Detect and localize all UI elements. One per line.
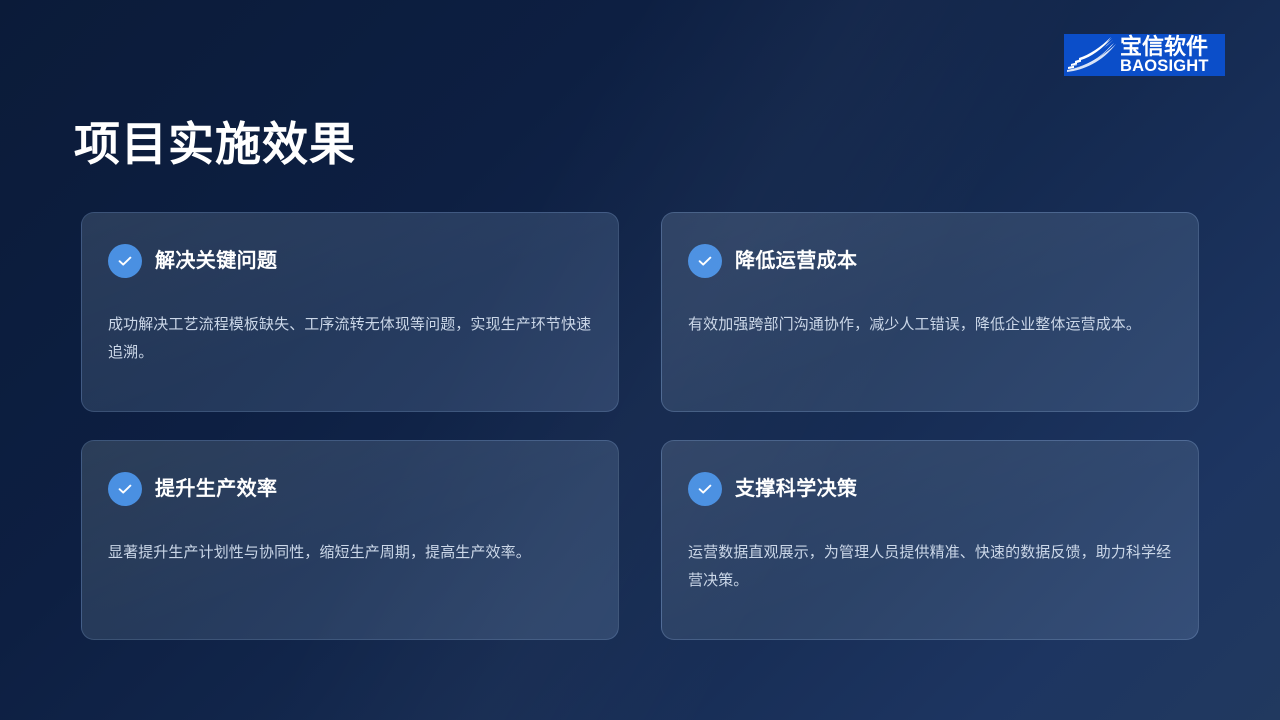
benefit-card: 解决关键问题 成功解决工艺流程模板缺失、工序流转无体现等问题，实现生产环节快速追… xyxy=(81,212,619,412)
check-circle-icon xyxy=(688,472,722,506)
card-body-text: 有效加强跨部门沟通协作，减少人工错误，降低企业整体运营成本。 xyxy=(688,311,1172,339)
card-title: 解决关键问题 xyxy=(155,248,277,274)
logo-brand-cn: 宝信软件 xyxy=(1120,35,1223,58)
card-header: 提升生产效率 xyxy=(108,472,277,506)
card-body-text: 成功解决工艺流程模板缺失、工序流转无体现等问题，实现生产环节快速追溯。 xyxy=(108,311,592,367)
card-title: 降低运营成本 xyxy=(735,248,857,274)
card-body-text: 运营数据直观展示，为管理人员提供精准、快速的数据反馈，助力科学经营决策。 xyxy=(688,539,1172,595)
page-title: 项目实施效果 xyxy=(74,114,356,174)
card-body-text: 显著提升生产计划性与协同性，缩短生产周期，提高生产效率。 xyxy=(108,539,592,567)
card-title: 提升生产效率 xyxy=(155,476,277,502)
logo-wordmark: 宝信软件 BAOSIGHT xyxy=(1119,34,1225,76)
benefit-card: 提升生产效率 显著提升生产计划性与协同性，缩短生产周期，提高生产效率。 xyxy=(81,440,619,640)
card-header: 降低运营成本 xyxy=(688,244,857,278)
check-circle-icon xyxy=(688,244,722,278)
benefit-card-grid: 解决关键问题 成功解决工艺流程模板缺失、工序流转无体现等问题，实现生产环节快速追… xyxy=(81,212,1201,640)
logo-swoosh-icon xyxy=(1064,34,1119,76)
benefit-card: 支撑科学决策 运营数据直观展示，为管理人员提供精准、快速的数据反馈，助力科学经营… xyxy=(661,440,1199,640)
baosight-logo: 宝信软件 BAOSIGHT xyxy=(1064,34,1225,76)
card-header: 解决关键问题 xyxy=(108,244,277,278)
card-title: 支撑科学决策 xyxy=(735,476,857,502)
slide-root: 宝信软件 BAOSIGHT 项目实施效果 解决关键问题 成功解决工艺流程模板缺失… xyxy=(0,0,1280,720)
logo-brand-en: BAOSIGHT xyxy=(1120,58,1223,75)
card-header: 支撑科学决策 xyxy=(688,472,857,506)
check-circle-icon xyxy=(108,472,142,506)
benefit-card: 降低运营成本 有效加强跨部门沟通协作，减少人工错误，降低企业整体运营成本。 xyxy=(661,212,1199,412)
check-circle-icon xyxy=(108,244,142,278)
